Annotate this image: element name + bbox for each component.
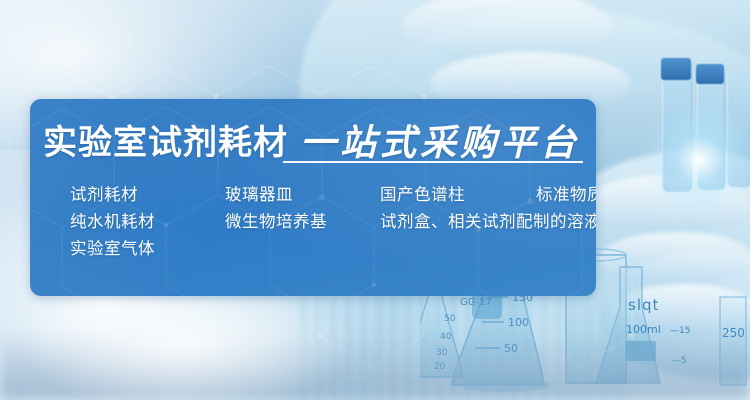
headline-underline [283,161,583,163]
headline: 实验室试剂耗材 一站式采购平台 [43,122,580,164]
category-item-kits-and-solutions[interactable]: 试剂盒、相关试剂配制的溶液 [380,209,596,236]
category-item-water-purifier-consumables[interactable]: 纯水机耗材 [70,209,155,236]
category-row: 纯水机耗材 微生物培养基 试剂盒、相关试剂配制的溶液 [40,209,596,236]
background-highlight-bottom [20,300,350,400]
category-row: 试剂耗材 玻璃器皿 国产色谱柱 标准物质 [40,182,596,209]
category-item-glassware[interactable]: 玻璃器皿 [225,182,293,209]
category-item-microbial-media[interactable]: 微生物培养基 [225,209,327,236]
category-item-lab-gases[interactable]: 实验室气体 [70,236,155,263]
category-list: 试剂耗材 玻璃器皿 国产色谱柱 标准物质 纯水机耗材 微生物培养基 试剂盒、相关… [40,182,596,263]
promo-banner: 250 APPROX 200 150 100 50 GG-17 50 40 30… [0,0,750,400]
category-row: 实验室气体 [40,236,596,263]
category-item-domestic-columns[interactable]: 国产色谱柱 [380,182,465,209]
headline-panel: 实验室试剂耗材 一站式采购平台 试剂耗材 玻璃器皿 国产色谱柱 标准物质 纯水机… [30,99,596,296]
headline-main-text: 实验室试剂耗材 [43,122,288,164]
category-item-reference-materials[interactable]: 标准物质 [536,182,596,209]
headline-script-text: 一站式采购平台 [300,122,580,164]
category-item-reagent-consumables[interactable]: 试剂耗材 [70,182,138,209]
